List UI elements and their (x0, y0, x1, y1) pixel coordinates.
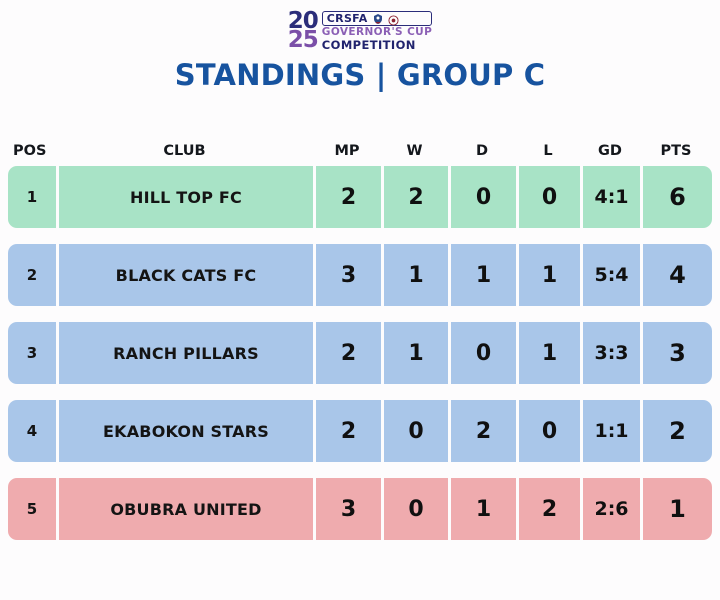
cell-club-name-value: BLACK CATS FC (116, 266, 257, 285)
cell-losses: 0 (516, 400, 580, 462)
cell-club-name: EKABOKON STARS (56, 400, 313, 462)
cell-losses: 0 (516, 166, 580, 228)
cell-club-name: BLACK CATS FC (56, 244, 313, 306)
column-header-w: W (381, 143, 448, 159)
cell-losses-value: 1 (542, 341, 557, 366)
column-header-club: CLUB (56, 143, 313, 159)
federation-seal-icon (388, 13, 399, 24)
cell-position-value: 3 (27, 344, 37, 362)
cell-matches-played-value: 2 (341, 341, 356, 366)
cell-losses: 1 (516, 322, 580, 384)
cell-position: 1 (8, 166, 56, 228)
cell-position-value: 5 (27, 500, 37, 518)
cell-losses-value: 0 (542, 185, 557, 210)
cell-matches-played: 2 (313, 322, 381, 384)
table-row[interactable]: 5OBUBRA UNITED30122:61 (8, 478, 712, 540)
cell-position-value: 1 (27, 188, 37, 206)
cell-losses-value: 1 (542, 263, 557, 288)
page-title: STANDINGS | GROUP C (0, 58, 720, 92)
cell-matches-played: 3 (313, 478, 381, 540)
cell-club-name-value: EKABOKON STARS (103, 422, 269, 441)
cell-goal-difference: 3:3 (580, 322, 640, 384)
cell-draws-value: 1 (476, 497, 491, 522)
cell-club-name: HILL TOP FC (56, 166, 313, 228)
cell-points-value: 3 (669, 339, 686, 367)
cell-wins: 0 (381, 478, 448, 540)
logo-year: 20 25 (288, 12, 318, 50)
logo-governors-line: GOVERNOR'S CUP (322, 27, 432, 38)
cell-wins-value: 0 (408, 497, 423, 522)
table-row[interactable]: 1HILL TOP FC22004:16 (8, 166, 712, 228)
logo-year-bottom: 25 (288, 31, 318, 50)
cell-points: 3 (640, 322, 712, 384)
cell-points: 1 (640, 478, 712, 540)
cell-club-name-value: HILL TOP FC (130, 188, 242, 207)
logo-text-block: CRSFA GOVERN (322, 11, 432, 51)
column-header-pos: POS (8, 143, 56, 159)
cell-draws-value: 2 (476, 419, 491, 444)
cell-goal-difference: 4:1 (580, 166, 640, 228)
cell-matches-played-value: 3 (341, 497, 356, 522)
table-row[interactable]: 3RANCH PILLARS21013:33 (8, 322, 712, 384)
cell-matches-played-value: 2 (341, 419, 356, 444)
cell-draws: 0 (448, 166, 516, 228)
table-header-row: POS CLUB MP W D L GD PTS (8, 136, 712, 166)
cell-position-value: 4 (27, 422, 37, 440)
cell-matches-played: 3 (313, 244, 381, 306)
cell-wins-value: 1 (408, 341, 423, 366)
cell-wins: 0 (381, 400, 448, 462)
cell-matches-played-value: 2 (341, 185, 356, 210)
cell-wins: 2 (381, 166, 448, 228)
table-body: 1HILL TOP FC22004:162BLACK CATS FC31115:… (8, 166, 712, 540)
cell-wins-value: 0 (408, 419, 423, 444)
cell-wins: 1 (381, 322, 448, 384)
cell-matches-played: 2 (313, 166, 381, 228)
cell-goal-difference-value: 5:4 (594, 264, 628, 286)
cell-goal-difference-value: 3:3 (594, 342, 628, 364)
cell-draws-value: 1 (476, 263, 491, 288)
cell-position: 4 (8, 400, 56, 462)
logo-group: 20 25 CRSFA (288, 11, 432, 51)
standings-page: 20 25 CRSFA (0, 0, 720, 600)
crsfa-badge: CRSFA (322, 11, 432, 26)
cell-points-value: 2 (669, 417, 686, 445)
column-header-pts: PTS (640, 143, 712, 159)
cell-club-name-value: RANCH PILLARS (113, 344, 259, 363)
cell-wins: 1 (381, 244, 448, 306)
cell-draws: 1 (448, 244, 516, 306)
standings-table: POS CLUB MP W D L GD PTS 1HILL TOP FC220… (8, 136, 712, 556)
cell-club-name-value: OBUBRA UNITED (110, 500, 261, 519)
column-header-d: D (448, 143, 516, 159)
cell-losses: 1 (516, 244, 580, 306)
cell-draws: 0 (448, 322, 516, 384)
cell-goal-difference-value: 2:6 (594, 498, 628, 520)
cell-points: 4 (640, 244, 712, 306)
cell-goal-difference-value: 4:1 (594, 186, 628, 208)
cell-points: 2 (640, 400, 712, 462)
crsfa-label: CRSFA (327, 12, 368, 25)
cell-losses-value: 2 (542, 497, 557, 522)
cell-draws-value: 0 (476, 185, 491, 210)
cell-points-value: 1 (669, 495, 686, 523)
competition-logo: 20 25 CRSFA (0, 0, 720, 48)
cell-position: 5 (8, 478, 56, 540)
cell-points-value: 6 (669, 183, 686, 211)
column-header-gd: GD (580, 143, 640, 159)
column-header-l: L (516, 143, 580, 159)
cell-matches-played-value: 3 (341, 263, 356, 288)
cell-wins-value: 2 (408, 185, 423, 210)
cell-draws: 1 (448, 478, 516, 540)
table-row[interactable]: 4EKABOKON STARS20201:12 (8, 400, 712, 462)
cell-goal-difference: 2:6 (580, 478, 640, 540)
cell-matches-played: 2 (313, 400, 381, 462)
cell-club-name: OBUBRA UNITED (56, 478, 313, 540)
cell-wins-value: 1 (408, 263, 423, 288)
cell-goal-difference-value: 1:1 (594, 420, 628, 442)
table-row[interactable]: 2BLACK CATS FC31115:44 (8, 244, 712, 306)
cell-position: 3 (8, 322, 56, 384)
cell-draws: 2 (448, 400, 516, 462)
column-header-mp: MP (313, 143, 381, 159)
cell-points: 6 (640, 166, 712, 228)
cell-goal-difference: 5:4 (580, 244, 640, 306)
cell-losses-value: 0 (542, 419, 557, 444)
logo-competition-line: COMPETITION (322, 39, 432, 51)
cell-goal-difference: 1:1 (580, 400, 640, 462)
cell-losses: 2 (516, 478, 580, 540)
cell-position: 2 (8, 244, 56, 306)
cell-club-name: RANCH PILLARS (56, 322, 313, 384)
cell-points-value: 4 (669, 261, 686, 289)
cell-position-value: 2 (27, 266, 37, 284)
cell-draws-value: 0 (476, 341, 491, 366)
federation-crest-icon (372, 12, 384, 24)
